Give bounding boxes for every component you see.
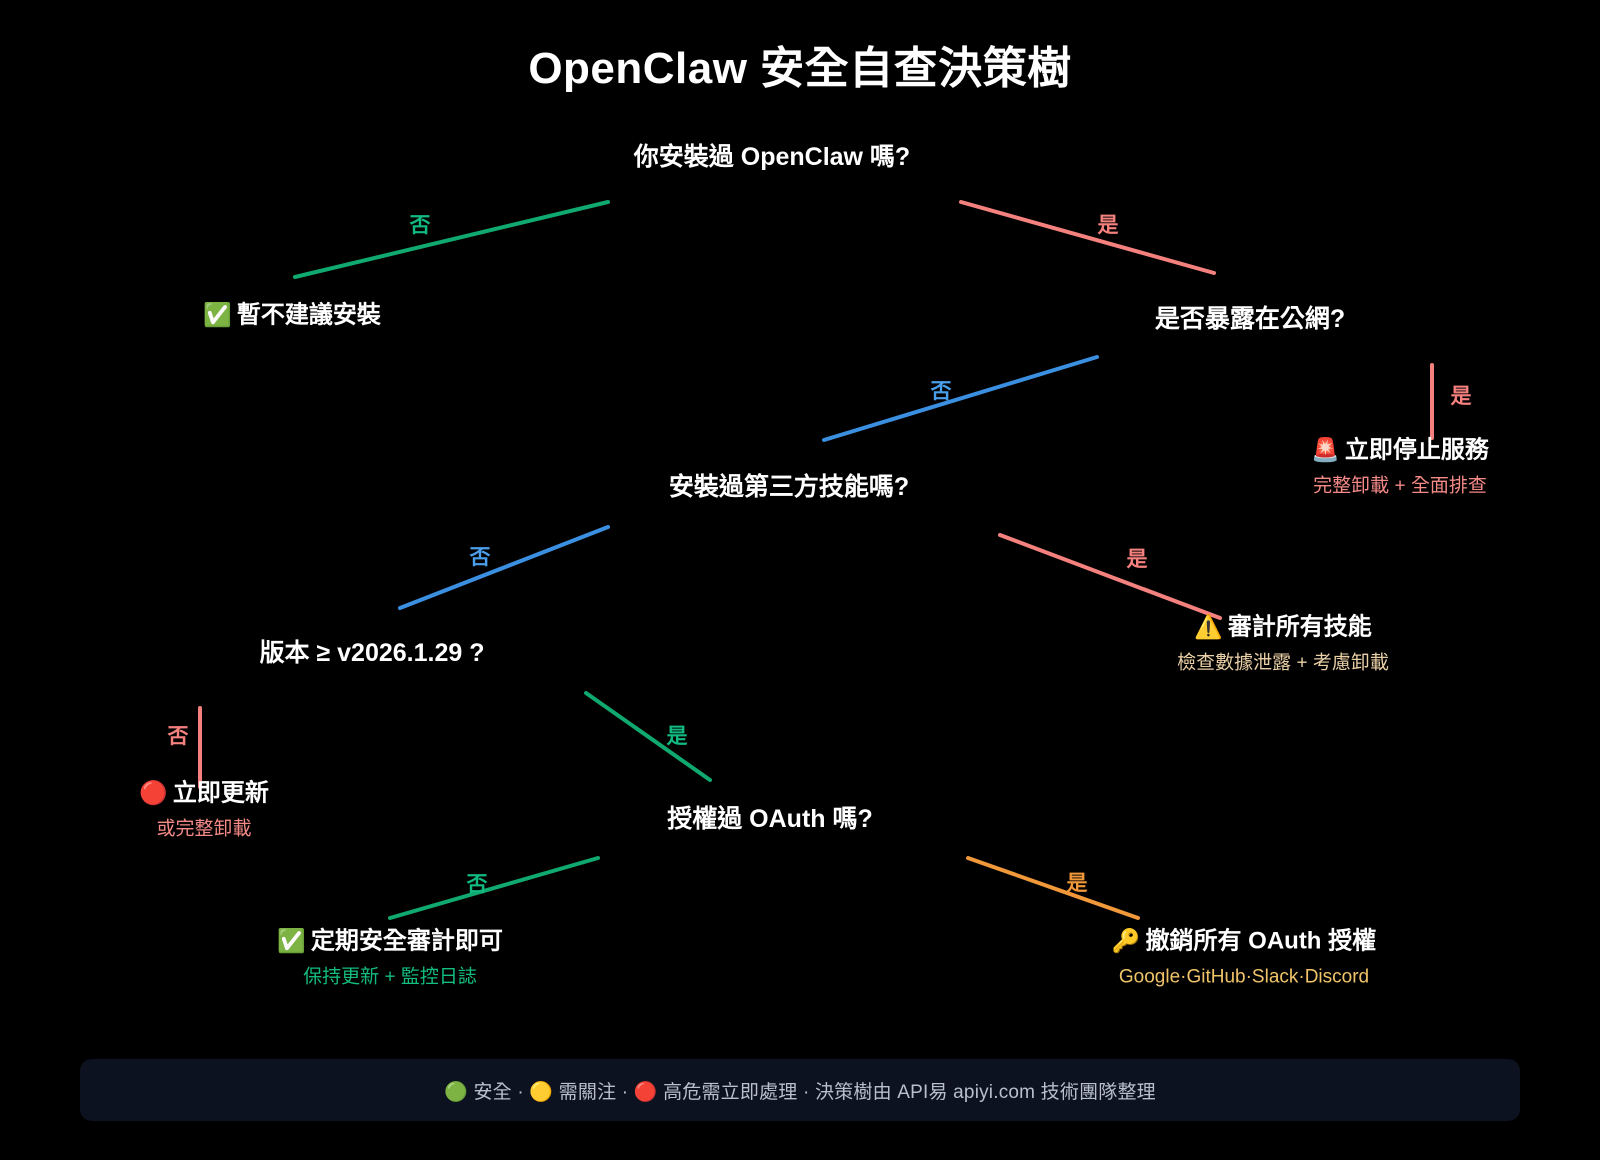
edge-label-edge-exposed-yes: 是 xyxy=(1451,380,1472,410)
tree-edge-edge-version-yes xyxy=(586,693,710,780)
node-status-icon-periodic-audit: ✅ xyxy=(277,927,306,953)
node-status-icon-stop-service: 🚨 xyxy=(1311,436,1340,462)
node-title-version-check: 版本 ≥ v2026.1.29 ? xyxy=(260,637,485,669)
node-title-revoke-oauth: 🔑撤銷所有 OAuth 授權 xyxy=(1112,926,1376,957)
node-title-third-party-skills: 安裝過第三方技能嗎? xyxy=(669,471,909,503)
tree-node-version-check[interactable]: 版本 ≥ v2026.1.29 ? xyxy=(260,637,485,669)
node-label-oauth-question: 授權過 OAuth 嗎? xyxy=(667,805,873,833)
node-status-icon-audit-skills: ⚠️ xyxy=(1194,613,1223,639)
footer-legend-text: 🟢 安全 · 🟡 需關注 · 🔴 高危需立即處理 · 決策樹由 API易 api… xyxy=(444,1077,1156,1104)
edge-label-edge-skills-no: 否 xyxy=(470,541,491,571)
tree-edge-edge-root-yes xyxy=(961,202,1214,273)
node-status-icon-no-install: ✅ xyxy=(203,302,232,328)
edge-label-edge-version-no: 否 xyxy=(168,720,189,750)
tree-node-update-now[interactable]: 🔴立即更新或完整卸載 xyxy=(139,778,269,841)
node-label-root: 你安裝過 OpenClaw 嗎? xyxy=(634,143,910,171)
node-status-icon-update-now: 🔴 xyxy=(139,779,168,805)
tree-edge-edge-skills-no xyxy=(400,527,608,608)
edge-label-edge-exposed-no: 否 xyxy=(931,375,952,405)
node-title-root: 你安裝過 OpenClaw 嗎? xyxy=(634,141,910,173)
node-status-icon-revoke-oauth: 🔑 xyxy=(1112,927,1141,953)
node-label-version-check: 版本 ≥ v2026.1.29 ? xyxy=(260,639,485,667)
tree-edge-edge-oauth-no xyxy=(390,858,598,918)
node-title-audit-skills: ⚠️審計所有技能 xyxy=(1177,612,1389,643)
node-subtitle-audit-skills: 檢查數據泄露 + 考慮卸載 xyxy=(1177,651,1389,675)
footer-legend-bar: 🟢 安全 · 🟡 需關注 · 🔴 高危需立即處理 · 決策樹由 API易 api… xyxy=(80,1059,1520,1121)
edge-label-edge-root-no: 否 xyxy=(410,209,431,239)
tree-node-audit-skills[interactable]: ⚠️審計所有技能檢查數據泄露 + 考慮卸載 xyxy=(1177,612,1389,675)
tree-node-no-install[interactable]: ✅暫不建議安裝 xyxy=(203,301,381,332)
tree-edge-edge-oauth-yes xyxy=(968,858,1138,918)
tree-edge-edge-root-no xyxy=(295,202,608,277)
tree-node-stop-service[interactable]: 🚨立即停止服務完整卸載 + 全面排查 xyxy=(1311,435,1489,498)
tree-node-public-exposed[interactable]: 是否暴露在公網? xyxy=(1155,303,1345,335)
node-label-public-exposed: 是否暴露在公網? xyxy=(1155,305,1345,333)
tree-node-root[interactable]: 你安裝過 OpenClaw 嗎? xyxy=(634,141,910,173)
node-label-no-install: 暫不建議安裝 xyxy=(237,302,381,329)
tree-node-periodic-audit[interactable]: ✅定期安全審計即可保持更新 + 監控日誌 xyxy=(277,926,503,989)
edge-label-edge-version-yes: 是 xyxy=(667,720,688,750)
node-title-oauth-question: 授權過 OAuth 嗎? xyxy=(667,803,873,835)
tree-node-third-party-skills[interactable]: 安裝過第三方技能嗎? xyxy=(669,471,909,503)
node-title-periodic-audit: ✅定期安全審計即可 xyxy=(277,926,503,957)
node-title-stop-service: 🚨立即停止服務 xyxy=(1311,435,1489,466)
decision-tree-diagram: OpenClaw 安全自查決策樹 你安裝過 OpenClaw 嗎?✅暫不建議安裝… xyxy=(0,0,1600,1160)
node-title-update-now: 🔴立即更新 xyxy=(139,778,269,809)
node-label-revoke-oauth: 撤銷所有 OAuth 授權 xyxy=(1145,927,1376,954)
node-label-audit-skills: 審計所有技能 xyxy=(1228,613,1372,640)
tree-edge-edge-exposed-no xyxy=(824,357,1097,440)
node-title-public-exposed: 是否暴露在公網? xyxy=(1155,303,1345,335)
node-subtitle-stop-service: 完整卸載 + 全面排查 xyxy=(1311,474,1489,498)
node-subtitle-revoke-oauth: Google·GitHub·Slack·Discord xyxy=(1112,965,1376,989)
tree-node-revoke-oauth[interactable]: 🔑撤銷所有 OAuth 授權Google·GitHub·Slack·Discor… xyxy=(1112,926,1376,989)
node-title-no-install: ✅暫不建議安裝 xyxy=(203,301,381,332)
node-subtitle-update-now: 或完整卸載 xyxy=(139,817,269,841)
edge-label-edge-skills-yes: 是 xyxy=(1127,543,1148,573)
node-label-update-now: 立即更新 xyxy=(173,779,269,806)
page-title: OpenClaw 安全自查決策樹 xyxy=(0,32,1600,96)
edge-label-edge-oauth-yes: 是 xyxy=(1067,867,1088,897)
node-label-periodic-audit: 定期安全審計即可 xyxy=(311,927,503,954)
edge-label-edge-oauth-no: 否 xyxy=(467,868,488,898)
tree-edge-edge-skills-yes xyxy=(1000,535,1220,618)
node-subtitle-periodic-audit: 保持更新 + 監控日誌 xyxy=(277,965,503,989)
tree-node-oauth-question[interactable]: 授權過 OAuth 嗎? xyxy=(667,803,873,835)
node-label-stop-service: 立即停止服務 xyxy=(1345,436,1489,463)
edge-label-edge-root-yes: 是 xyxy=(1098,209,1119,239)
node-label-third-party-skills: 安裝過第三方技能嗎? xyxy=(669,473,909,501)
